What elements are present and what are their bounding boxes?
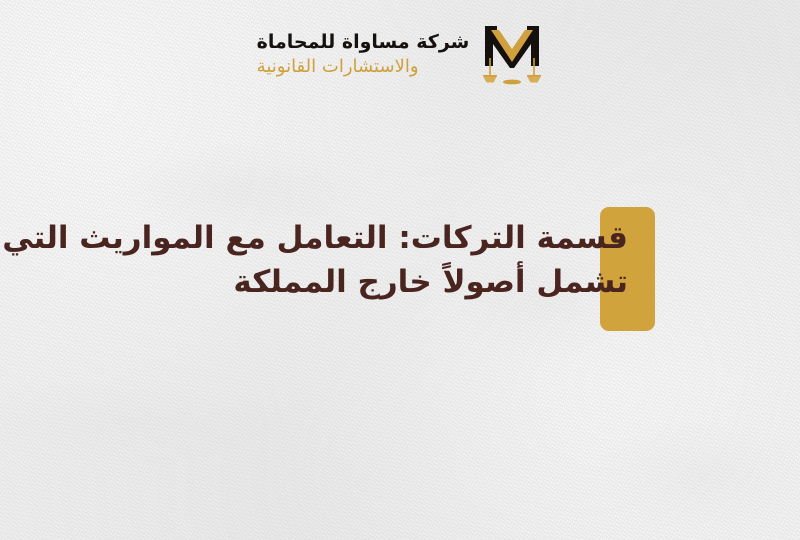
- brand-logo-lockup: شركة مساواة للمحاماة والاستشارات القانون…: [0, 22, 800, 88]
- brand-name-secondary: والاستشارات القانونية: [257, 57, 419, 78]
- slide-canvas: شركة مساواة للمحاماة والاستشارات القانون…: [0, 0, 800, 540]
- headline-line-2: تشمل أصولاً خارج المملكة: [100, 260, 628, 304]
- headline-line-1: قسمة التركات: التعامل مع المواريث التي: [100, 216, 628, 260]
- page-title: قسمة التركات: التعامل مع المواريث التي ت…: [100, 216, 628, 304]
- scales-of-justice-m-monogram-icon: [481, 22, 543, 88]
- brand-name-group: شركة مساواة للمحاماة والاستشارات القانون…: [257, 32, 470, 78]
- brand-name-primary: شركة مساواة للمحاماة: [257, 32, 470, 54]
